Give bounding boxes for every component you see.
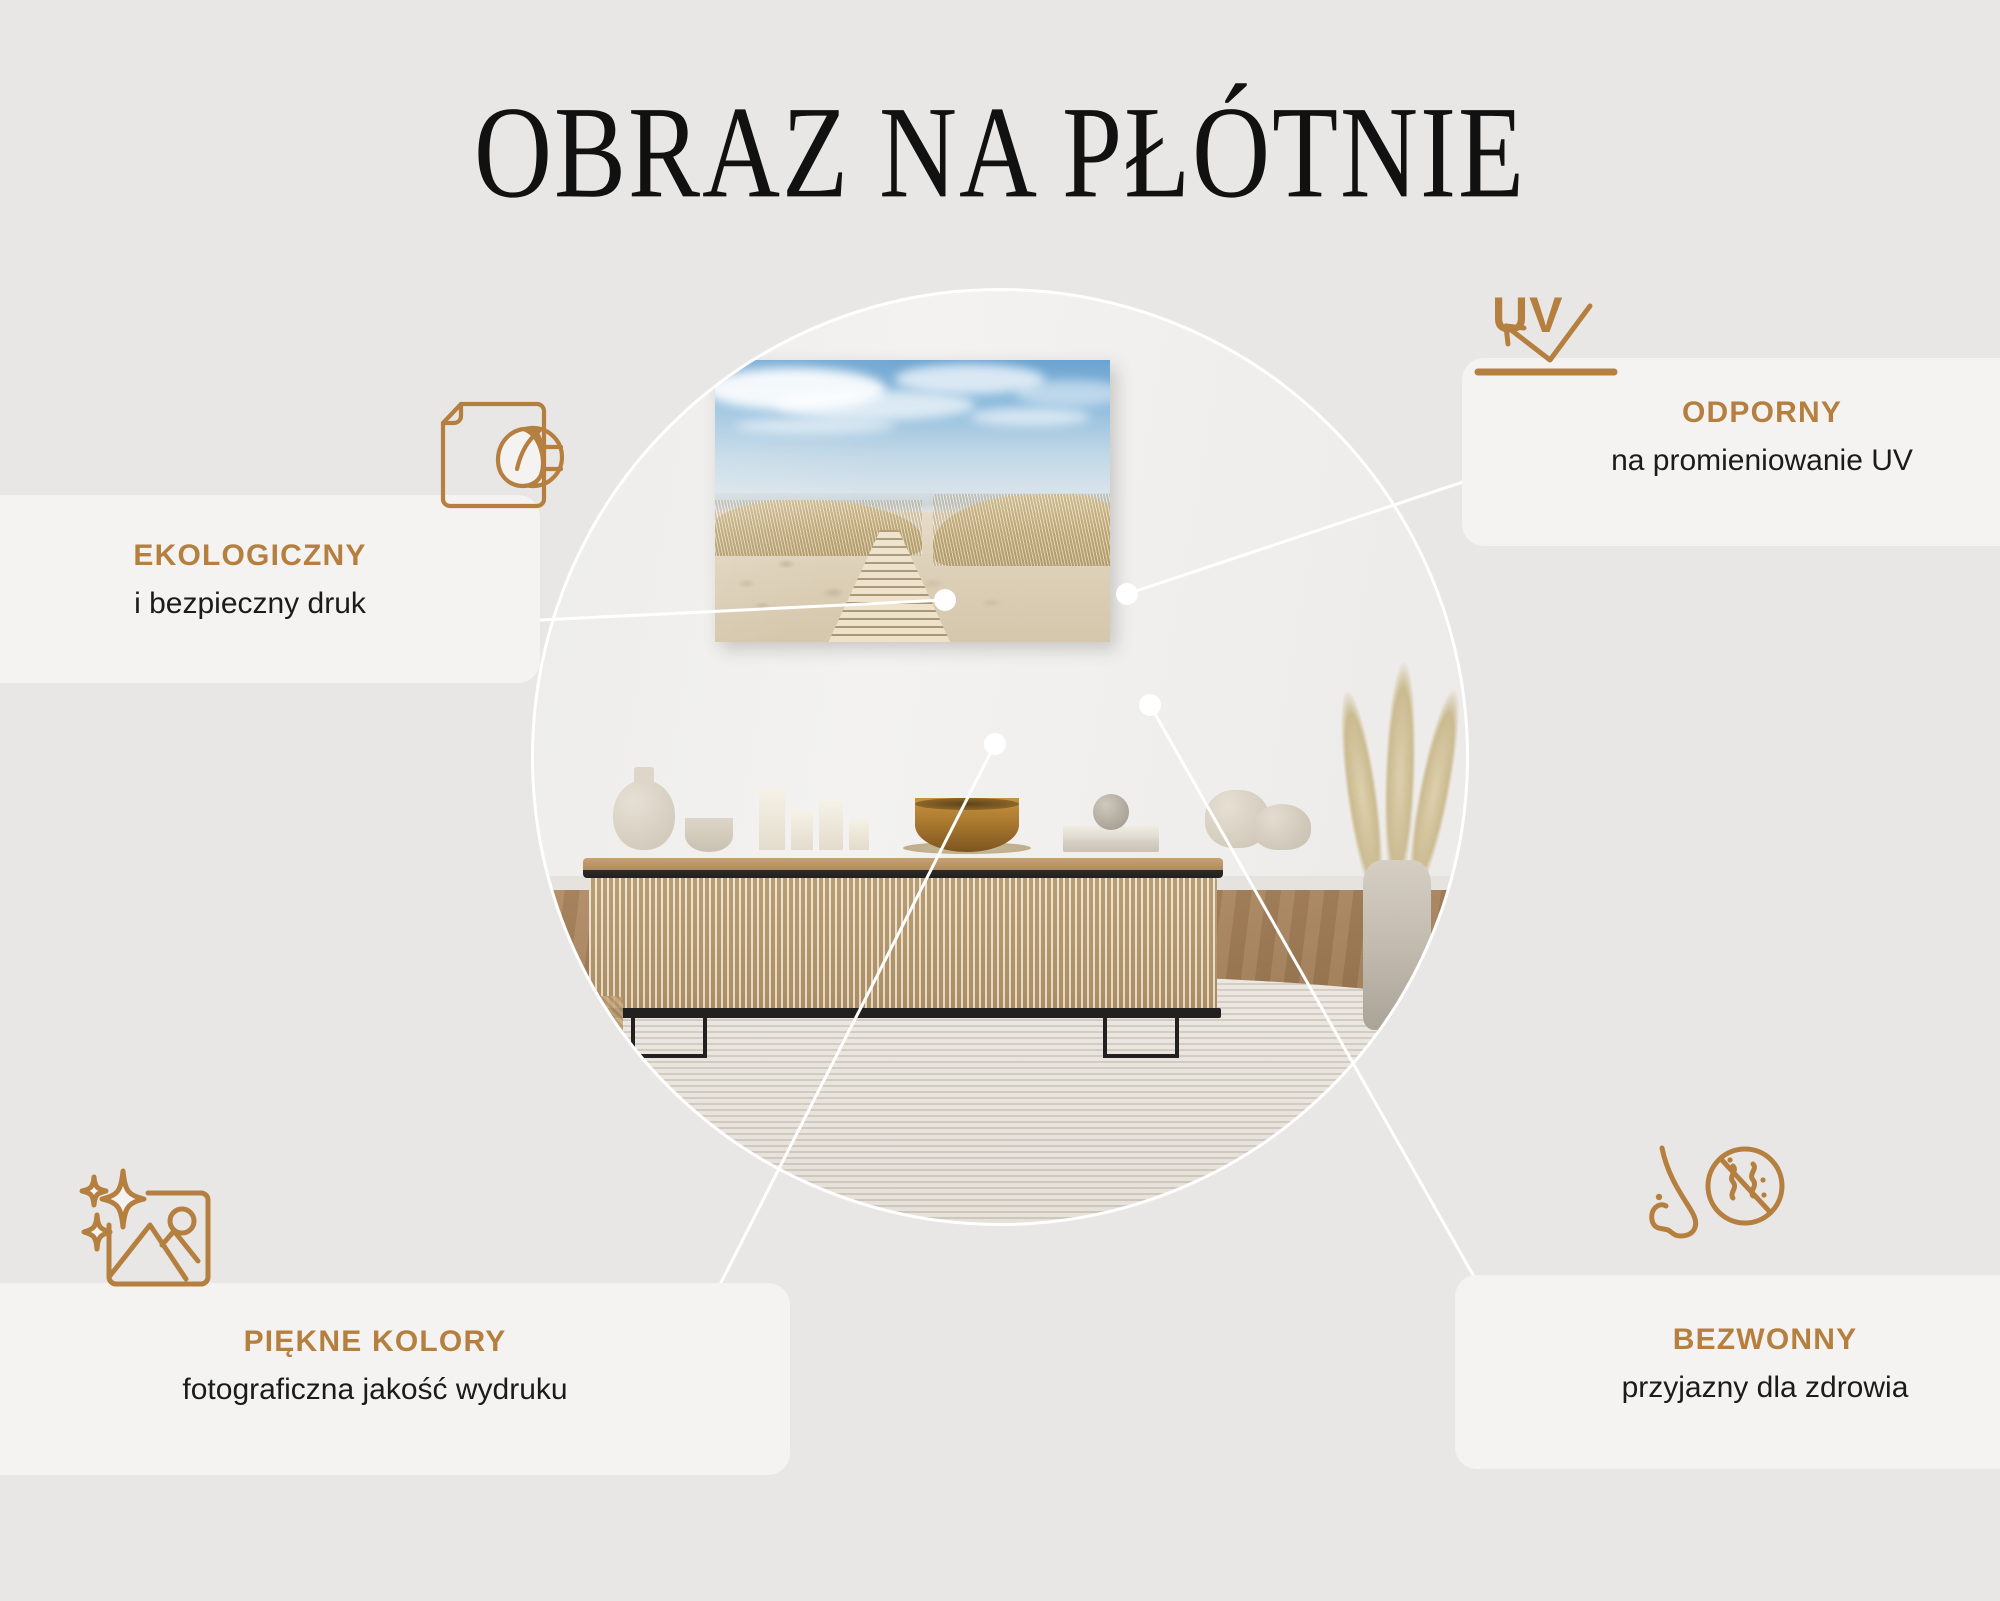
page-title: OBRAZ NA PŁÓTNIE — [0, 78, 2000, 229]
document-leaf-globe-icon — [425, 395, 585, 515]
feature-panel-eco[interactable]: EKOLOGICZNY i bezpieczny druk — [0, 495, 540, 683]
sideboard-top — [583, 858, 1223, 878]
pillar-candle — [791, 810, 813, 850]
feature-subtitle-uv: na promieniowanie UV — [1462, 444, 2000, 478]
ceramic-bowl — [685, 818, 733, 852]
feature-subtitle-eco: i bezpieczny druk — [0, 587, 540, 621]
sideboard-leg — [703, 1016, 707, 1058]
feature-title-odor: BEZWONNY — [1455, 1323, 2000, 1357]
feature-panel-odor[interactable]: BEZWONNY przyjazny dla zdrowia — [1455, 1275, 2000, 1469]
pillar-candle — [849, 818, 869, 850]
room-scene — [533, 290, 1467, 1224]
ceramic-vase — [613, 780, 675, 850]
feature-subtitle-colors: fotograficzna jakość wydruku — [0, 1373, 790, 1407]
sideboard — [583, 858, 1223, 1036]
cloud — [970, 408, 1090, 426]
ceramic-pot — [1253, 804, 1311, 850]
feature-subtitle-odor: przyjazny dla zdrowia — [1455, 1371, 2000, 1405]
interior-scene — [533, 290, 1467, 1224]
stone-sphere — [1093, 794, 1129, 830]
feature-title-eco: EKOLOGICZNY — [0, 539, 540, 573]
nose-no-smell-icon — [1622, 1140, 1792, 1288]
cloud — [735, 418, 895, 434]
cloud — [775, 390, 975, 420]
sideboard-base — [585, 1008, 1221, 1018]
canvas-artwork — [715, 360, 1110, 642]
feature-panel-colors[interactable]: PIĘKNE KOLORY fotograficzna jakość wydru… — [0, 1283, 790, 1475]
sideboard-leg — [1175, 1016, 1179, 1058]
sideboard-leg — [631, 1016, 635, 1058]
feature-title-colors: PIĘKNE KOLORY — [0, 1325, 790, 1359]
sideboard-leg — [1103, 1016, 1107, 1058]
tall-floor-vase — [1363, 860, 1431, 1030]
woven-basket — [545, 996, 623, 1058]
brass-bowl — [915, 798, 1019, 852]
sideboard-leg-crossbar — [631, 1054, 707, 1058]
sideboard-fluted-body — [589, 878, 1217, 1010]
pillar-candle — [759, 788, 785, 850]
dune-grass-right — [933, 494, 1110, 566]
sideboard-leg-crossbar — [1103, 1054, 1179, 1058]
uv-badge-label: UV — [1492, 286, 1563, 344]
pillar-candle — [819, 800, 843, 850]
picture-sparkle-icon — [78, 1165, 228, 1307]
